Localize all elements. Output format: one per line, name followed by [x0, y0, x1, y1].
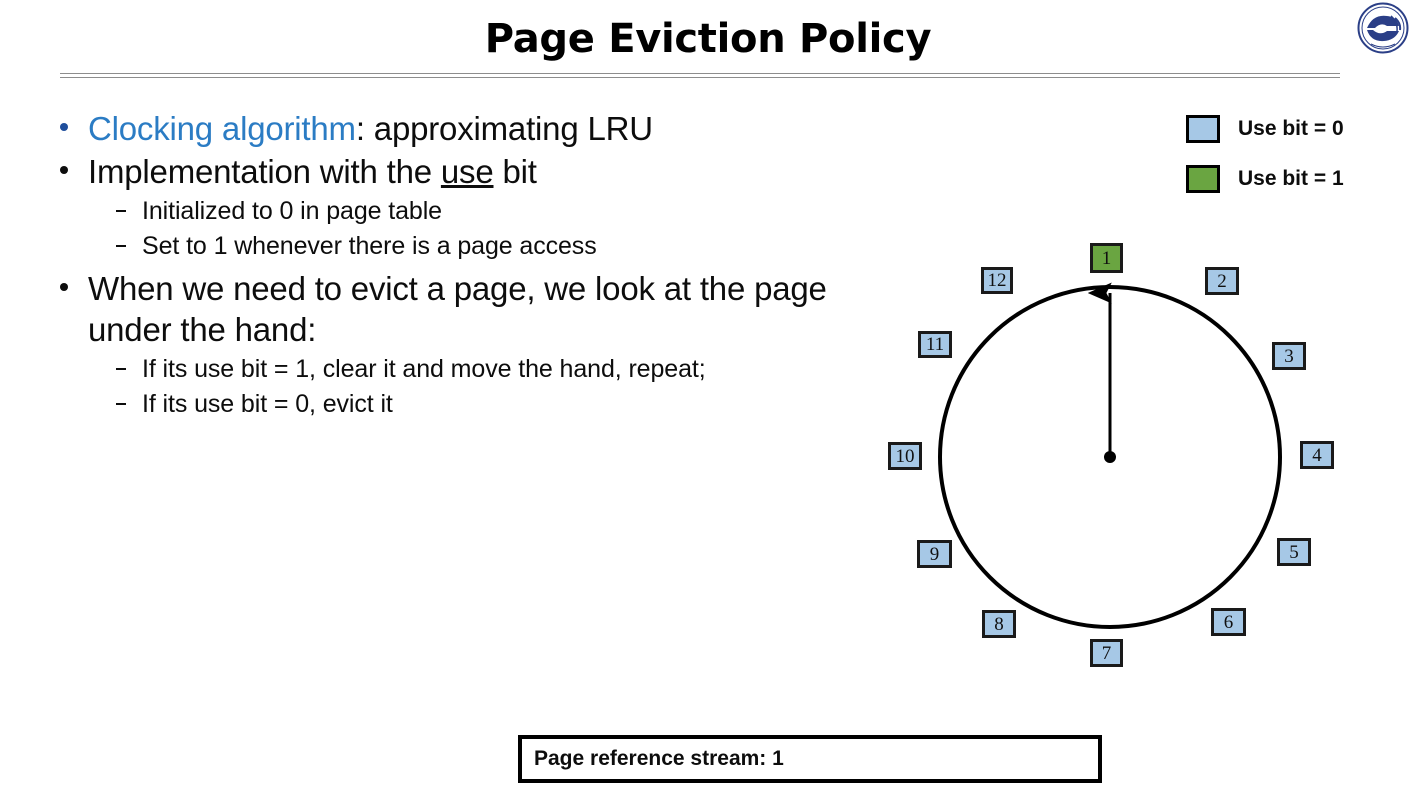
clock-page-box-6: 6	[1211, 608, 1246, 636]
legend-row-use-bit-1: Use bit = 1	[1186, 160, 1416, 198]
clock-page-box-2: 2	[1205, 267, 1239, 295]
legend-label-use-bit-1: Use bit = 1	[1238, 167, 1344, 191]
title-divider-line-top	[60, 73, 1340, 74]
page-reference-stream-text: Page reference stream: 1	[522, 747, 784, 771]
dash-marker-icon	[116, 368, 126, 370]
bullet-implementation: Implementation with the use bit	[56, 151, 856, 192]
clock-page-label: 9	[930, 545, 940, 564]
bullet-underlined-text: use	[441, 153, 494, 190]
clock-page-label: 4	[1312, 446, 1322, 465]
page-reference-stream-box: Page reference stream: 1	[518, 735, 1102, 783]
clock-page-box-9: 9	[917, 540, 952, 568]
clock-page-box-4: 4	[1300, 441, 1334, 469]
use-bit-legend: Use bit = 0 Use bit = 1	[1186, 110, 1416, 210]
dash-marker-icon	[116, 403, 126, 405]
bullet-marker-icon	[60, 166, 68, 174]
sub-bullet-text: If its use bit = 0, evict it	[142, 390, 393, 418]
clock-page-box-1: 1	[1090, 243, 1123, 273]
clock-page-label: 7	[1102, 644, 1112, 663]
bullet-marker-icon	[60, 123, 68, 131]
title-divider	[60, 73, 1340, 78]
clock-page-box-8: 8	[982, 610, 1016, 638]
bullet-pre-text: Implementation with the	[88, 153, 441, 190]
sub-bullet-text: Initialized to 0 in page table	[142, 197, 442, 225]
sub-bullet-text: If its use bit = 1, clear it and move th…	[142, 355, 706, 383]
clock-page-box-12: 12	[981, 267, 1013, 294]
bullet-clocking-algorithm: Clocking algorithm: approximating LRU	[56, 108, 856, 149]
bullet-rest-text: : approximating LRU	[356, 110, 653, 147]
clock-page-box-10: 10	[888, 442, 922, 470]
legend-row-use-bit-0: Use bit = 0	[1186, 110, 1416, 148]
clock-page-label: 11	[926, 335, 944, 354]
clock-page-label: 8	[994, 615, 1004, 634]
clock-page-label: 12	[988, 271, 1007, 290]
bullet-post-text: bit	[494, 153, 537, 190]
clock-page-box-7: 7	[1090, 639, 1123, 667]
clock-page-label: 1	[1102, 249, 1112, 268]
dash-marker-icon	[116, 245, 126, 247]
clock-diagram: 123456789101112	[860, 230, 1360, 690]
sub-bullet-use-bit-one: If its use bit = 1, clear it and move th…	[56, 352, 856, 387]
university-crest-logo	[1357, 2, 1409, 54]
bullet-text: When we need to evict a page, we look at…	[88, 270, 827, 348]
clock-page-box-3: 3	[1272, 342, 1306, 370]
dash-marker-icon	[116, 210, 126, 212]
sub-bullet-group-evict: If its use bit = 1, clear it and move th…	[56, 352, 856, 422]
clock-page-label: 10	[896, 447, 915, 466]
clock-page-box-11: 11	[918, 331, 952, 358]
clock-page-label: 3	[1284, 347, 1294, 366]
bullet-evict-page: When we need to evict a page, we look at…	[56, 268, 856, 350]
clock-page-box-5: 5	[1277, 538, 1311, 566]
sub-bullet-initialized: Initialized to 0 in page table	[56, 194, 856, 229]
sub-bullet-text: Set to 1 whenever there is a page access	[142, 232, 597, 260]
legend-label-use-bit-0: Use bit = 0	[1238, 117, 1344, 141]
legend-swatch-use-bit-1	[1186, 165, 1220, 193]
bullet-list: Clocking algorithm: approximating LRU Im…	[56, 108, 856, 426]
clock-page-label: 2	[1217, 272, 1227, 291]
bullet-accent-text: Clocking algorithm	[88, 110, 356, 147]
slide-canvas: Page Eviction Policy Clocking algorithm:…	[0, 0, 1416, 790]
title-divider-line-bottom	[60, 77, 1340, 78]
sub-bullet-use-bit-zero: If its use bit = 0, evict it	[56, 387, 856, 422]
clock-center-hub	[1104, 451, 1116, 463]
bullet-marker-icon	[60, 283, 68, 291]
page-title: Page Eviction Policy	[0, 16, 1416, 62]
sub-bullet-group-implementation: Initialized to 0 in page table Set to 1 …	[56, 194, 856, 264]
sub-bullet-set-to-one: Set to 1 whenever there is a page access	[56, 229, 856, 264]
clock-page-label: 5	[1289, 543, 1299, 562]
clock-page-label: 6	[1224, 613, 1234, 632]
legend-swatch-use-bit-0	[1186, 115, 1220, 143]
